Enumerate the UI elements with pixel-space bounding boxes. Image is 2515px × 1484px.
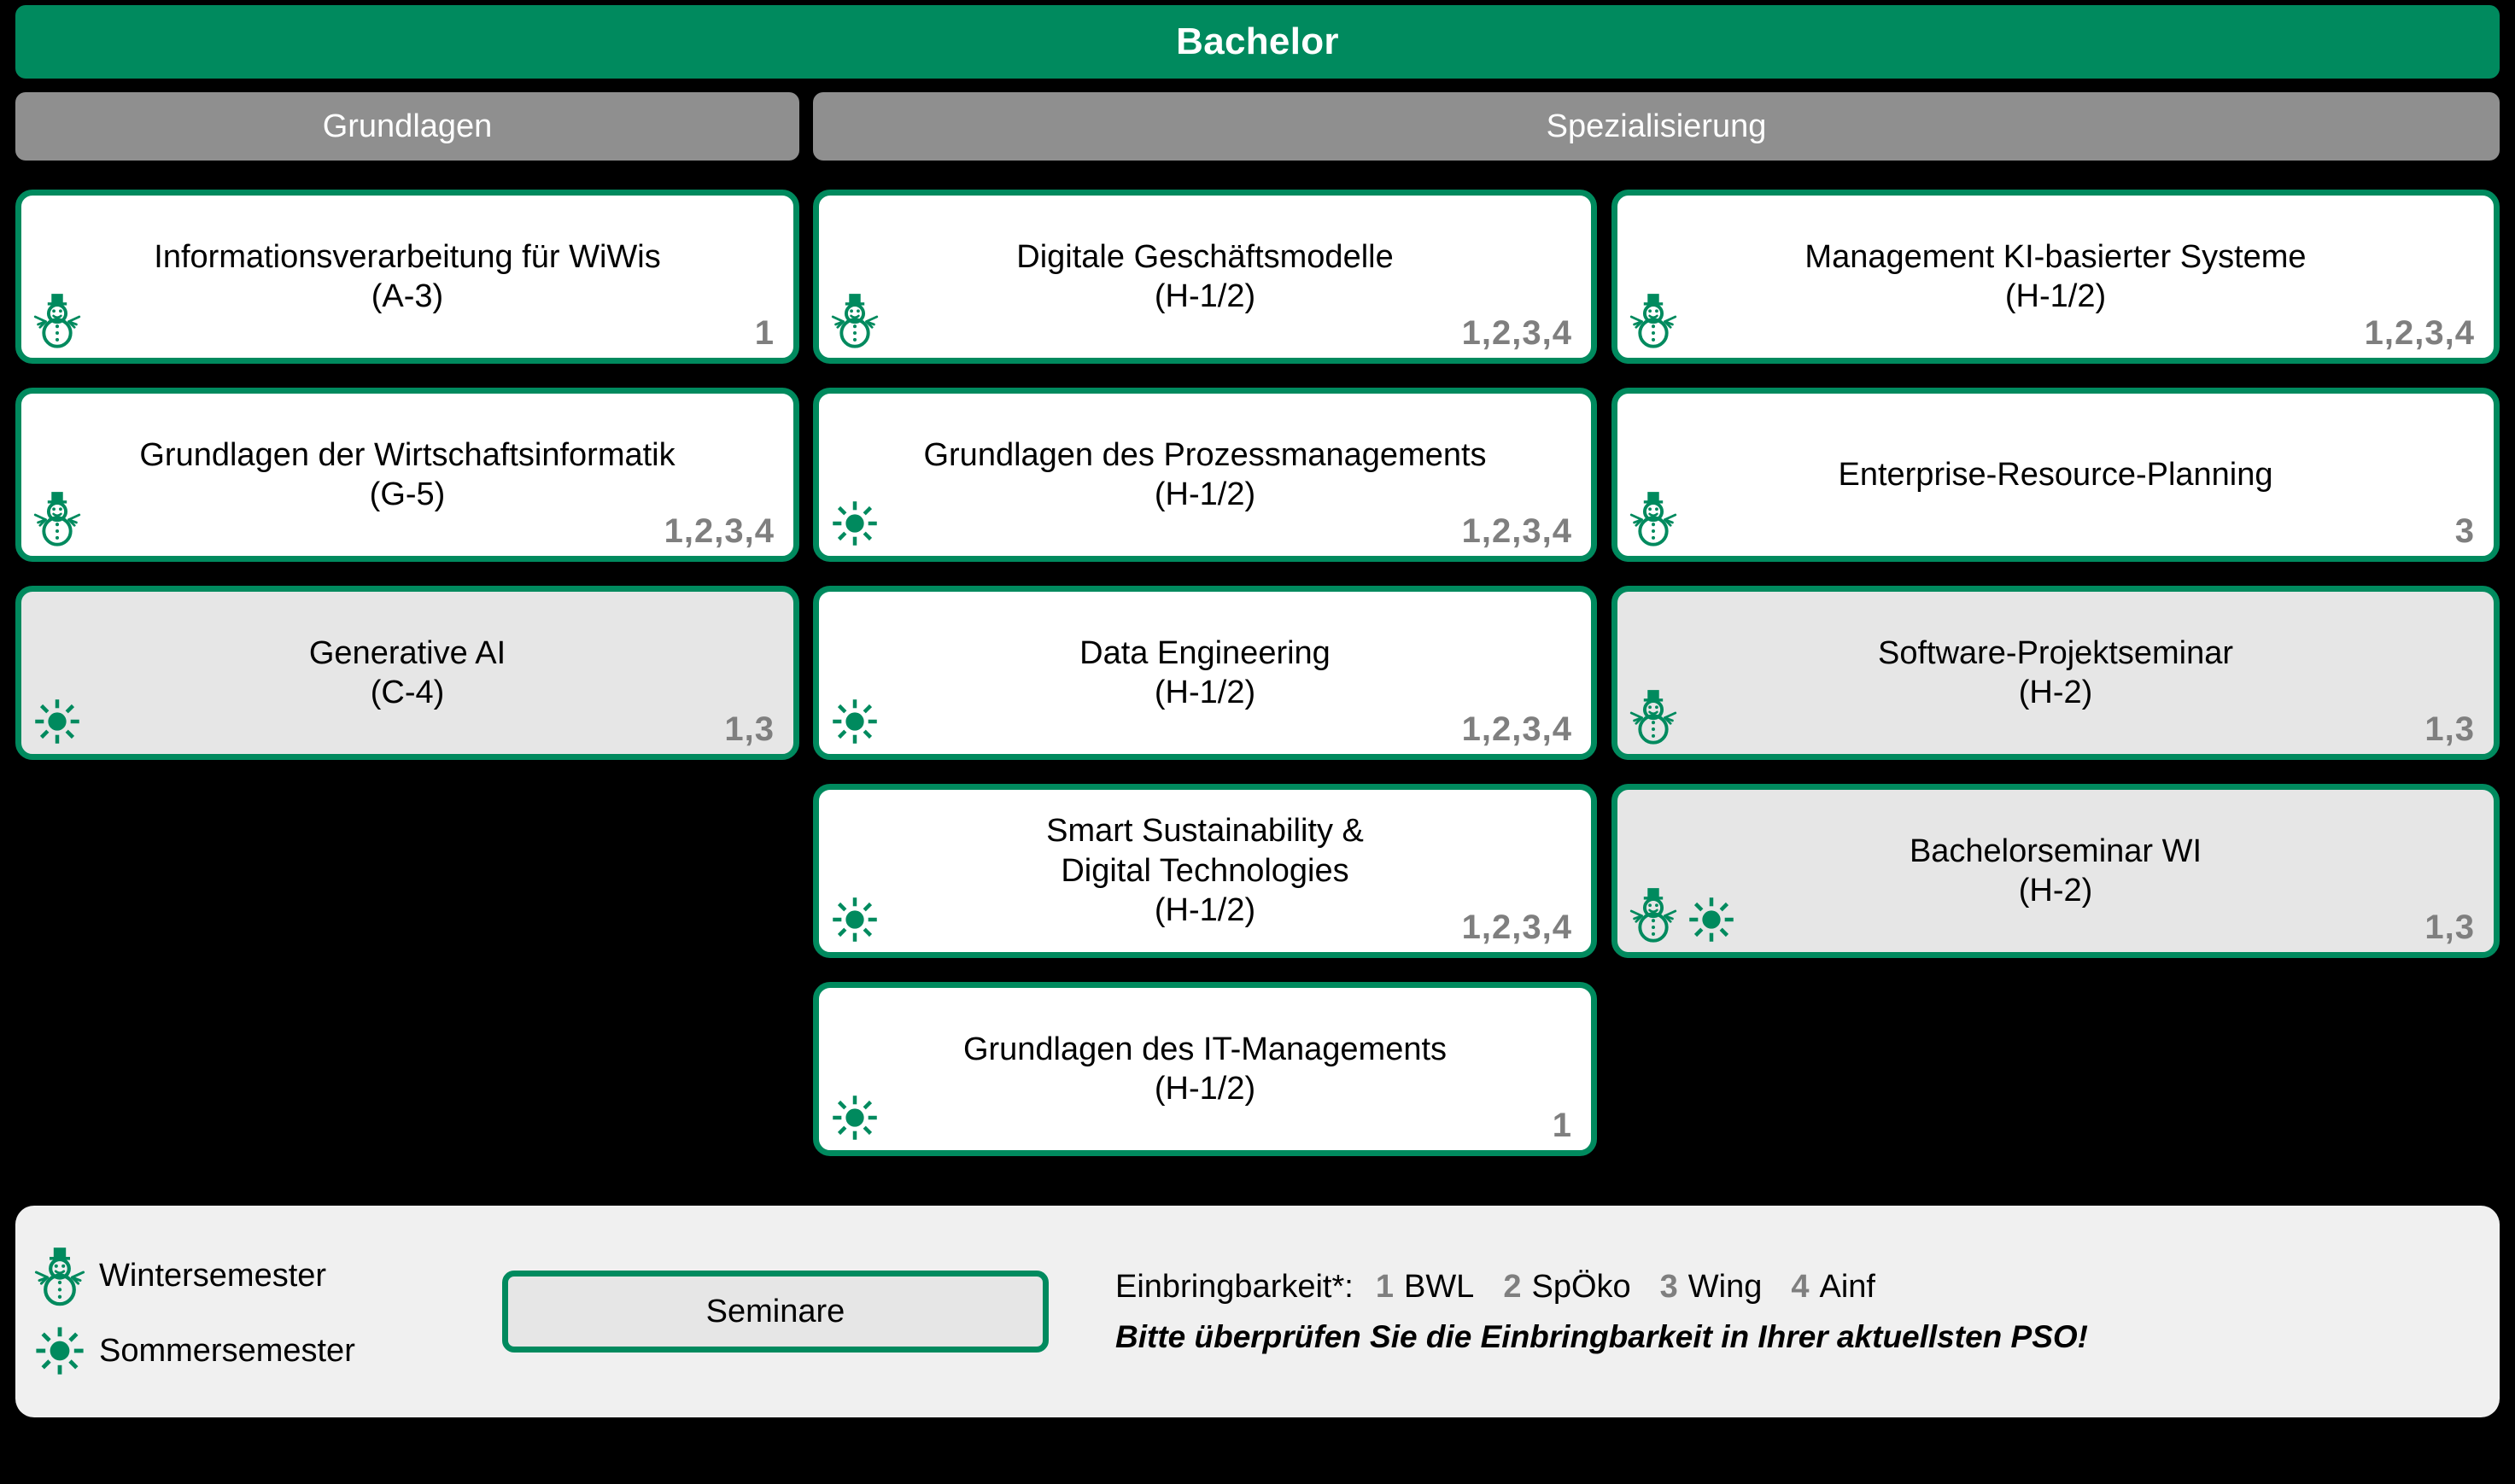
legend-footer: Wintersemester Sommersemester Seminare E… — [15, 1206, 2500, 1417]
course-card-text: Digitale Geschäftsmodelle(H-1/2) — [831, 237, 1579, 317]
einbringbarkeit-item: 2SpÖko — [1503, 1269, 1630, 1306]
course-einbringbarkeit-numbers: 1,2,3,4 — [2365, 314, 2475, 353]
course-semester-icons — [33, 491, 81, 547]
course-card[interactable]: Grundlagen der Wirtschaftsinformatik(G-5… — [15, 388, 799, 562]
course-card-text: Grundlagen der Wirtschaftsinformatik(G-5… — [33, 435, 781, 515]
snowman-icon — [1629, 491, 1677, 547]
snowman-icon-svg — [33, 491, 81, 547]
course-title: Generative AI — [33, 634, 781, 673]
sun-icon — [34, 1325, 85, 1376]
sun-icon-svg — [1687, 896, 1735, 944]
einbringbarkeit-items: 1BWL2SpÖko3Wing4Ainf — [1376, 1269, 1904, 1306]
sun-icon-svg — [33, 698, 81, 745]
einbringbarkeit-item: 1BWL — [1376, 1269, 1475, 1306]
section-header-grundlagen: Grundlagen — [15, 92, 799, 161]
column-grundlagen: Informationsverarbeitung für WiWis(A-3) … — [15, 190, 799, 784]
sun-icon — [831, 896, 879, 944]
course-title: Digitale Geschäftsmodelle — [831, 237, 1579, 277]
course-card-text: Grundlagen des Prozessmanagements(H-1/2) — [831, 435, 1579, 515]
course-code: (A-3) — [33, 277, 781, 316]
course-card[interactable]: Grundlagen des IT-Managements(H-1/2) 1 — [813, 982, 1597, 1156]
column-spezialisierung-mitte: Digitale Geschäftsmodelle(H-1/2) 1,2,3,4… — [813, 190, 1597, 1180]
course-semester-icons — [1629, 491, 1677, 547]
course-code: (H-1/2) — [831, 673, 1579, 712]
course-card-text: Enterprise-Resource-Planning — [1629, 455, 2482, 494]
course-semester-icons — [831, 1094, 879, 1142]
course-title: Management KI-basierter Systeme — [1629, 237, 2482, 277]
course-semester-icons — [831, 500, 879, 547]
course-title: Grundlagen des Prozessmanagements — [831, 435, 1579, 475]
einbringbarkeit-item: 3Wing — [1660, 1269, 1763, 1306]
course-einbringbarkeit-numbers: 1,2,3,4 — [664, 512, 775, 551]
einbringbarkeit-item-name: Ainf — [1820, 1269, 1875, 1306]
course-einbringbarkeit-numbers: 1 — [1553, 1107, 1572, 1145]
course-title: Grundlagen des IT-Managements — [831, 1030, 1579, 1069]
sun-icon-svg — [831, 896, 879, 944]
sun-icon — [831, 698, 879, 745]
snowman-icon — [1629, 689, 1677, 745]
sun-icon-svg — [34, 1325, 85, 1376]
course-card[interactable]: Generative AI(C-4) 1,3 — [15, 586, 799, 760]
sun-icon-svg — [831, 698, 879, 745]
seminare-button[interactable]: Seminare — [502, 1271, 1049, 1353]
course-code: (C-4) — [33, 673, 781, 712]
course-einbringbarkeit-numbers: 1,3 — [2424, 710, 2475, 749]
snowman-icon-svg — [33, 293, 81, 349]
course-title: Data Engineering — [831, 634, 1579, 673]
einbringbarkeit-item-number: 3 — [1660, 1269, 1678, 1306]
einbringbarkeit-key: Einbringbarkeit*: 1BWL2SpÖko3Wing4Ainf — [1115, 1269, 2088, 1306]
legend-item-winter-label: Wintersemester — [99, 1258, 326, 1294]
einbringbarkeit-item-name: Wing — [1688, 1269, 1763, 1306]
snowman-icon-svg — [1629, 689, 1677, 745]
course-title: Software-Projektseminar — [1629, 634, 2482, 673]
einbringbarkeit-item-number: 4 — [1791, 1269, 1809, 1306]
course-einbringbarkeit-numbers: 3 — [2455, 512, 2475, 551]
course-card-text: Software-Projektseminar(H-2) — [1629, 634, 2482, 713]
snowman-icon — [1629, 293, 1677, 349]
course-code: (H-1/2) — [831, 277, 1579, 316]
snowman-icon-svg — [831, 293, 879, 349]
course-card-text: Informationsverarbeitung für WiWis(A-3) — [33, 237, 781, 317]
course-title: Grundlagen der Wirtschaftsinformatik — [33, 435, 781, 475]
course-card-text: Generative AI(C-4) — [33, 634, 781, 713]
course-einbringbarkeit-numbers: 1,2,3,4 — [1462, 512, 1572, 551]
snowman-icon — [34, 1247, 85, 1307]
snowman-icon — [33, 491, 81, 547]
course-einbringbarkeit-numbers: 1,2,3,4 — [1462, 909, 1572, 947]
course-card-text: Grundlagen des IT-Managements(H-1/2) — [831, 1030, 1579, 1109]
column-spezialisierung-rechts: Management KI-basierter Systeme(H-1/2) 1… — [1611, 190, 2500, 982]
sun-icon — [1687, 896, 1735, 944]
course-einbringbarkeit-numbers: 1 — [755, 314, 775, 353]
course-title: Digital Technologies — [831, 851, 1579, 891]
study-plan-root: Bachelor Grundlagen Spezialisierung Info… — [0, 0, 2515, 1484]
course-title: Enterprise-Resource-Planning — [1629, 455, 2482, 494]
course-semester-icons — [1629, 293, 1677, 349]
course-card-text: Bachelorseminar WI(H-2) — [1629, 832, 2482, 911]
course-semester-icons — [831, 293, 879, 349]
sun-icon — [34, 1325, 85, 1376]
snowman-icon-svg — [1629, 491, 1677, 547]
course-semester-icons — [831, 896, 879, 944]
sun-icon — [831, 500, 879, 547]
course-einbringbarkeit-numbers: 1,2,3,4 — [1462, 710, 1572, 749]
course-code: (H-2) — [1629, 871, 2482, 910]
course-card[interactable]: Smart Sustainability &Digital Technologi… — [813, 784, 1597, 958]
course-card[interactable]: Grundlagen des Prozessmanagements(H-1/2)… — [813, 388, 1597, 562]
semester-legend: Wintersemester Sommersemester — [15, 1247, 494, 1377]
sun-icon-svg — [831, 1094, 879, 1142]
course-card[interactable]: Bachelorseminar WI(H-2) 1,3 — [1611, 784, 2500, 958]
einbringbarkeit-block: Einbringbarkeit*: 1BWL2SpÖko3Wing4Ainf B… — [1115, 1269, 2088, 1355]
snowman-icon-svg — [1629, 293, 1677, 349]
course-code: (H-1/2) — [1629, 277, 2482, 316]
snowman-icon — [831, 293, 879, 349]
einbringbarkeit-item-number: 2 — [1503, 1269, 1521, 1306]
sun-icon — [831, 1094, 879, 1142]
section-header-spezialisierung-label: Spezialisierung — [1547, 108, 1767, 145]
course-einbringbarkeit-numbers: 1,3 — [724, 710, 775, 749]
legend-item-summer: Sommersemester — [34, 1325, 494, 1376]
course-semester-icons — [831, 698, 879, 745]
course-semester-icons — [1629, 689, 1677, 745]
course-einbringbarkeit-numbers: 1,2,3,4 — [1462, 314, 1572, 353]
legend-item-summer-label: Sommersemester — [99, 1333, 355, 1370]
snowman-icon — [34, 1247, 85, 1307]
snowman-icon-svg — [1629, 887, 1677, 944]
course-title: Smart Sustainability & — [831, 811, 1579, 850]
snowman-icon-svg — [34, 1247, 85, 1307]
course-semester-icons — [33, 698, 81, 745]
program-banner: Bachelor — [15, 5, 2500, 79]
section-header-spezialisierung: Spezialisierung — [813, 92, 2500, 161]
einbringbarkeit-item-name: BWL — [1404, 1269, 1474, 1306]
course-title: Bachelorseminar WI — [1629, 832, 2482, 871]
course-card[interactable]: Informationsverarbeitung für WiWis(A-3) … — [15, 190, 799, 364]
legend-item-winter: Wintersemester — [34, 1247, 494, 1307]
course-code: (H-1/2) — [831, 1069, 1579, 1108]
course-card[interactable]: Management KI-basierter Systeme(H-1/2) 1… — [1611, 190, 2500, 364]
snowman-icon — [33, 293, 81, 349]
einbringbarkeit-label: Einbringbarkeit*: — [1115, 1269, 1354, 1306]
course-semester-icons — [33, 293, 81, 349]
course-semester-icons — [1629, 887, 1735, 944]
sun-icon-svg — [831, 500, 879, 547]
course-card[interactable]: Enterprise-Resource-Planning 3 — [1611, 388, 2500, 562]
seminare-button-label: Seminare — [706, 1294, 845, 1330]
course-title: Informationsverarbeitung für WiWis — [33, 237, 781, 277]
einbringbarkeit-item-number: 1 — [1376, 1269, 1394, 1306]
einbringbarkeit-item: 4Ainf — [1791, 1269, 1875, 1306]
section-header-grundlagen-label: Grundlagen — [323, 108, 493, 145]
einbringbarkeit-note: Bitte überprüfen Sie die Einbringbarkeit… — [1115, 1319, 2088, 1355]
einbringbarkeit-item-name: SpÖko — [1531, 1269, 1630, 1306]
course-card[interactable]: Software-Projektseminar(H-2) 1,3 — [1611, 586, 2500, 760]
course-einbringbarkeit-numbers: 1,3 — [2424, 909, 2475, 947]
course-code: (G-5) — [33, 475, 781, 514]
course-code: (H-1/2) — [831, 475, 1579, 514]
course-card[interactable]: Digitale Geschäftsmodelle(H-1/2) 1,2,3,4 — [813, 190, 1597, 364]
course-card[interactable]: Data Engineering(H-1/2) 1,2,3,4 — [813, 586, 1597, 760]
sun-icon — [33, 698, 81, 745]
program-title: Bachelor — [1176, 20, 1339, 63]
course-card-text: Data Engineering(H-1/2) — [831, 634, 1579, 713]
course-card-text: Management KI-basierter Systeme(H-1/2) — [1629, 237, 2482, 317]
snowman-icon — [1629, 887, 1677, 944]
course-code: (H-2) — [1629, 673, 2482, 712]
